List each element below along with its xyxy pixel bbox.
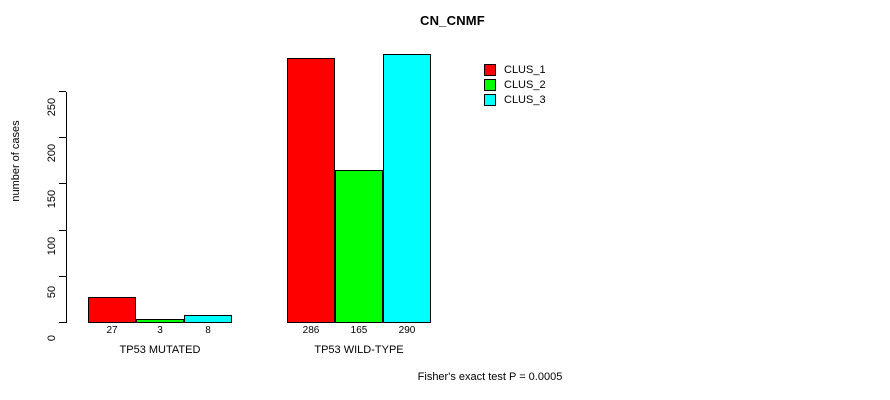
- legend-swatch-icon: [484, 79, 496, 91]
- bar-value-label: 27: [88, 325, 136, 336]
- plot-area: 2738TP53 MUTATED286165290TP53 WILD-TYPE: [0, 0, 890, 400]
- bar: [184, 315, 232, 323]
- bar-value-label: 165: [335, 325, 383, 336]
- legend-item-label: CLUS_2: [504, 79, 546, 91]
- group-label: TP53 WILD-TYPE: [287, 344, 431, 356]
- legend-swatch-icon: [484, 94, 496, 106]
- legend: CLUS_1CLUS_2CLUS_3: [484, 62, 546, 107]
- group-label: TP53 MUTATED: [88, 344, 232, 356]
- bar-value-label: 8: [184, 325, 232, 336]
- bar: [136, 319, 184, 323]
- barplot-figure: CN_CNMF number of cases 050100150200250 …: [0, 0, 890, 400]
- legend-item: CLUS_2: [484, 77, 546, 92]
- footer-annotation: Fisher's exact test P = 0.0005: [280, 371, 700, 383]
- bar: [335, 170, 383, 323]
- legend-item-label: CLUS_1: [504, 64, 546, 76]
- bar-value-label: 286: [287, 325, 335, 336]
- bar: [88, 297, 136, 323]
- bar: [383, 54, 431, 323]
- bar-value-label: 290: [383, 325, 431, 336]
- legend-item: CLUS_3: [484, 92, 546, 107]
- legend-item-label: CLUS_3: [504, 94, 546, 106]
- bar-value-label: 3: [136, 325, 184, 336]
- legend-item: CLUS_1: [484, 62, 546, 77]
- legend-swatch-icon: [484, 64, 496, 76]
- bar: [287, 58, 335, 323]
